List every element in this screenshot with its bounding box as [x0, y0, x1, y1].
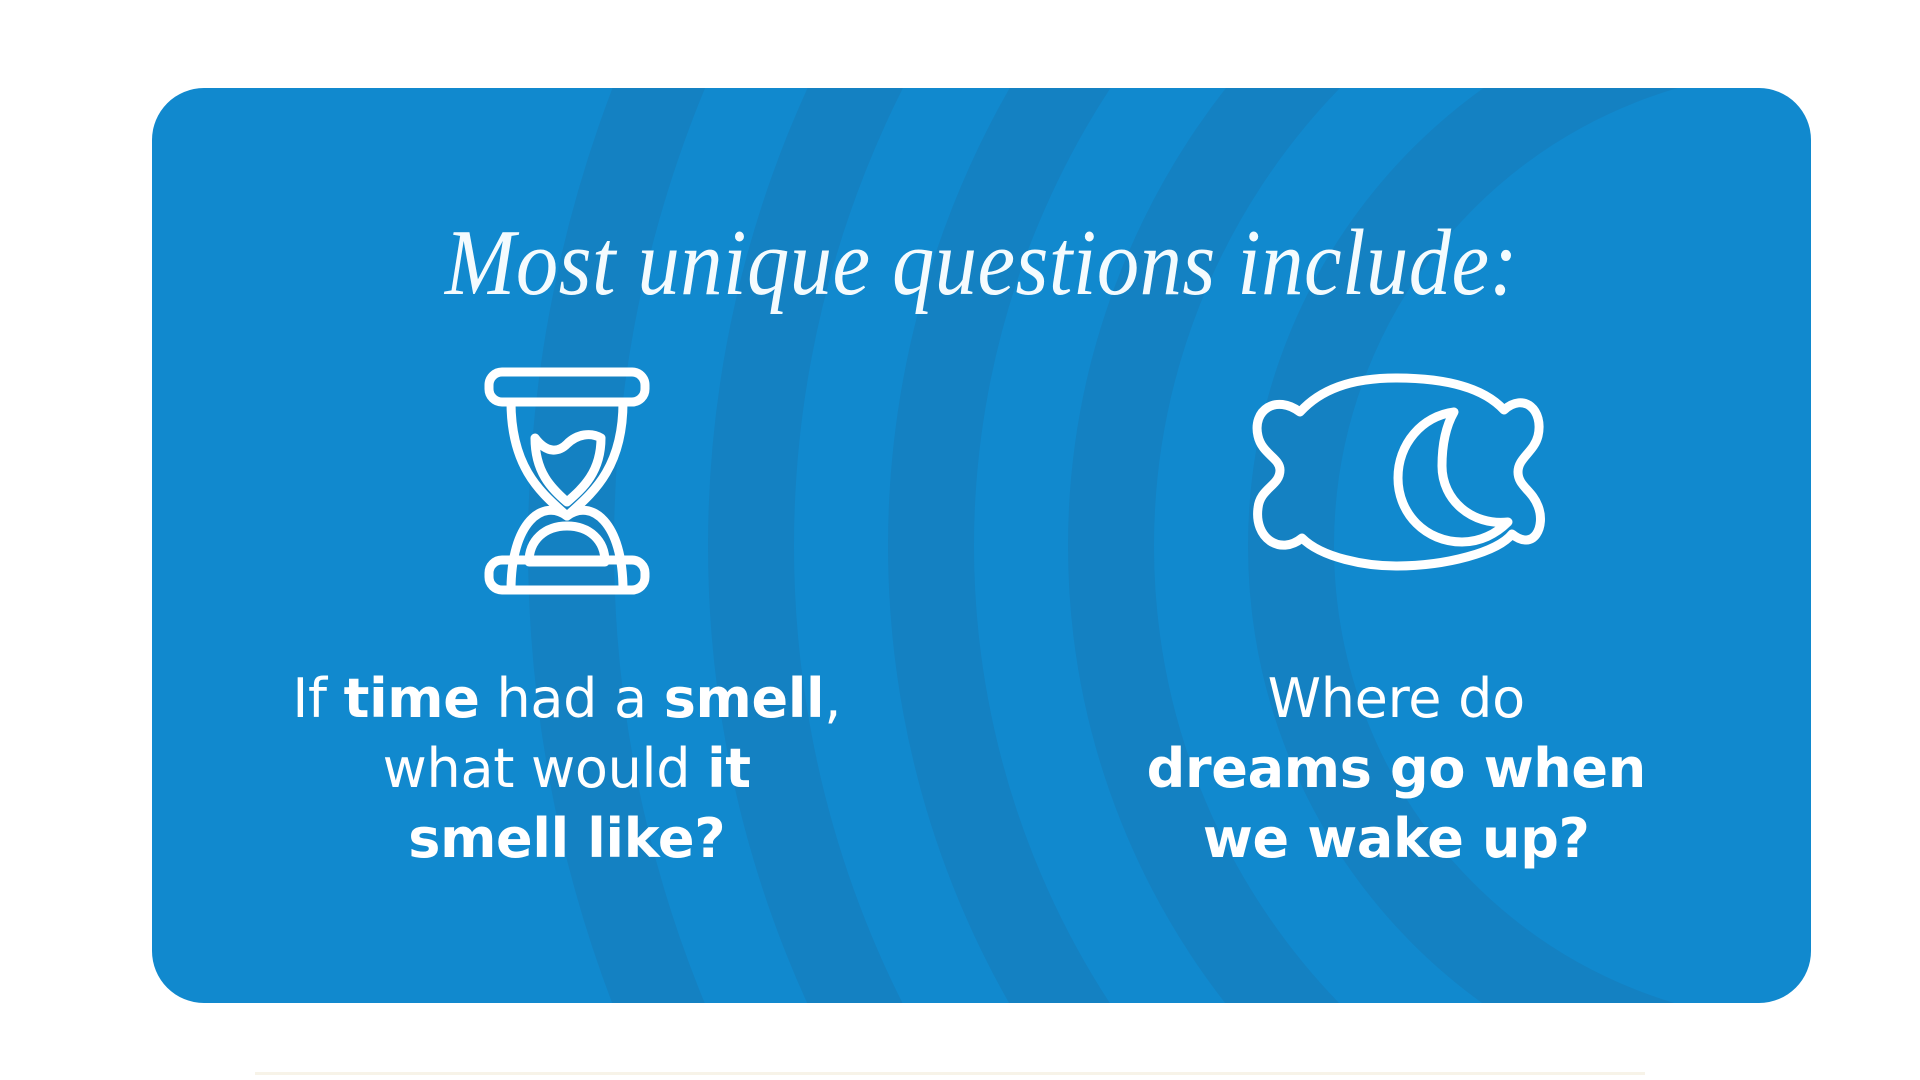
- question-line: If time had a smell,: [292, 667, 841, 730]
- question-card: Most unique questions include:: [152, 88, 1811, 1003]
- question-line: smell like?: [408, 807, 725, 870]
- question-column-time: If time had a smell,what would itsmell l…: [152, 356, 982, 956]
- question-line: we wake up?: [1203, 807, 1590, 870]
- question-text-dreams: Where dodreams go whenwe wake up?: [1147, 664, 1646, 875]
- pillow-moon-icon-wrap: [1246, 356, 1546, 606]
- question-text-time: If time had a smell,what would itsmell l…: [292, 664, 841, 875]
- question-line: dreams go when: [1147, 737, 1646, 800]
- page-title: Most unique questions include:: [235, 216, 1728, 310]
- question-columns: If time had a smell,what would itsmell l…: [152, 356, 1811, 956]
- question-column-dreams: Where dodreams go whenwe wake up?: [982, 356, 1812, 956]
- question-line: Where do: [1268, 667, 1525, 730]
- question-line: what would it: [383, 737, 751, 800]
- page-canvas: Most unique questions include:: [0, 0, 1920, 1080]
- hourglass-icon: [481, 366, 653, 596]
- pillow-moon-icon: [1246, 366, 1546, 596]
- hourglass-icon-wrap: [481, 356, 653, 606]
- bottom-divider: [255, 1072, 1645, 1075]
